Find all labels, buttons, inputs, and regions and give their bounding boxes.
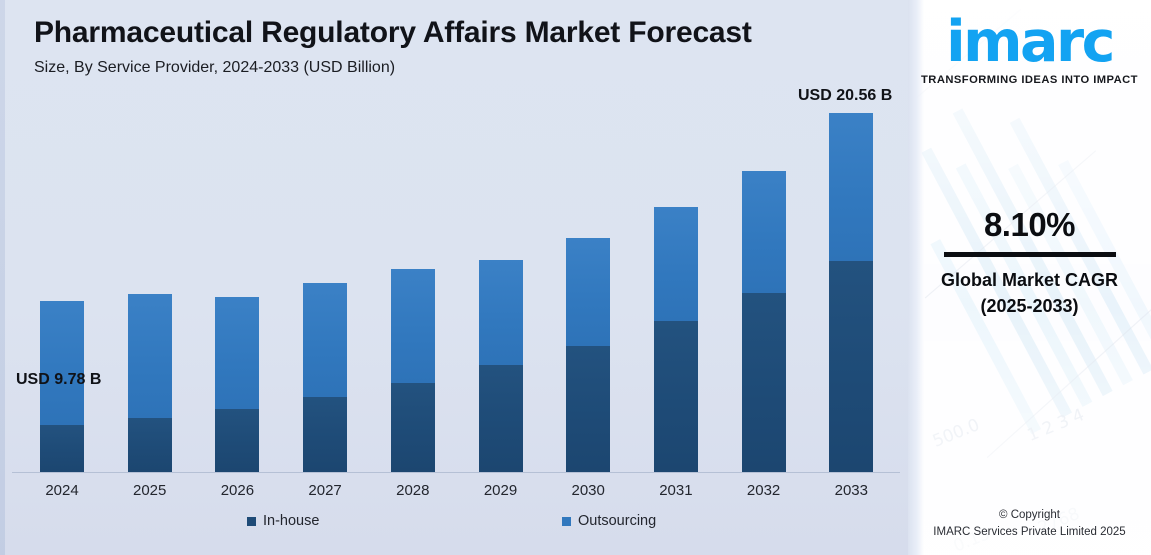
bar-segment-outsourcing-2031: [654, 207, 698, 321]
cagr-value: 8.10%: [908, 208, 1151, 243]
x-axis-label-2032: 2032: [729, 482, 799, 499]
bar-segment-outsourcing-2029: [479, 260, 523, 365]
infographic-page: Pharmaceutical Regulatory Affairs Market…: [0, 0, 1151, 555]
chart-legend: In-house Outsourcing: [0, 513, 908, 535]
bar-segment-outsourcing-2026: [215, 297, 259, 409]
bar-segment-outsourcing-2032: [742, 171, 786, 293]
bar-segment-outsourcing-2025: [128, 294, 172, 417]
bar-group-2031: [654, 207, 698, 472]
cagr-divider: [944, 252, 1116, 257]
bar-segment-outsourcing-2027: [303, 283, 347, 397]
legend-label-outsourcing: Outsourcing: [578, 513, 656, 529]
copyright-line1: © Copyright: [908, 507, 1151, 524]
value-label-last: USD 20.56 B: [798, 87, 892, 105]
legend-swatch-icon-outsourcing: [562, 517, 571, 526]
chart-panel: Pharmaceutical Regulatory Affairs Market…: [0, 0, 908, 555]
bar-group-2025: [128, 294, 172, 472]
copyright-block: © Copyright IMARC Services Private Limit…: [908, 507, 1151, 542]
value-label-first: USD 9.78 B: [16, 371, 101, 389]
legend-item-in-house: In-house: [247, 513, 319, 529]
axis-baseline: [12, 472, 900, 473]
bar-segment-in-house-2024: [40, 425, 84, 472]
x-axis-label-2024: 2024: [27, 482, 97, 499]
bar-segment-in-house-2025: [128, 418, 172, 472]
bar-segment-in-house-2026: [215, 409, 259, 472]
x-axis-label-2031: 2031: [641, 482, 711, 499]
bar-segment-outsourcing-2030: [566, 238, 610, 346]
bar-segment-outsourcing-2028: [391, 269, 435, 383]
cagr-caption-line2: (2025-2033): [908, 293, 1151, 319]
bar-segment-outsourcing-2024: [40, 301, 84, 425]
x-axis-label-2026: 2026: [202, 482, 272, 499]
bar-group-2028: [391, 269, 435, 472]
x-axis-label-2029: 2029: [466, 482, 536, 499]
legend-swatch-icon-in-house: [247, 517, 256, 526]
legend-item-outsourcing: Outsourcing: [562, 513, 656, 529]
x-axis-label-2028: 2028: [378, 482, 448, 499]
bar-segment-outsourcing-2033: [829, 113, 873, 261]
bar-segment-in-house-2031: [654, 321, 698, 472]
bar-group-2029: [479, 260, 523, 472]
bar-segment-in-house-2028: [391, 383, 435, 472]
x-axis-label-2033: 2033: [816, 482, 886, 499]
bar-group-2033: [829, 113, 873, 472]
x-axis-label-2027: 2027: [290, 482, 360, 499]
bar-group-2026: [215, 297, 259, 472]
brand-panel: 500.0 1 2 3 4 0.15 2768 imarc TRANSFORMI…: [908, 0, 1151, 555]
bar-segment-in-house-2033: [829, 261, 873, 472]
bar-group-2027: [303, 283, 347, 472]
copyright-line2: IMARC Services Private Limited 2025: [908, 524, 1151, 541]
cagr-block: 8.10% Global Market CAGR (2025-2033): [908, 208, 1151, 319]
bar-segment-in-house-2027: [303, 397, 347, 472]
bar-group-2030: [566, 238, 610, 472]
plot-area: 2024202520262027202820292030203120322033: [0, 0, 908, 555]
bar-segment-in-house-2030: [566, 346, 610, 472]
bar-segment-in-house-2029: [479, 365, 523, 472]
logo-tagline: TRANSFORMING IDEAS INTO IMPACT: [908, 74, 1151, 86]
bar-group-2032: [742, 171, 786, 472]
x-axis-label-2030: 2030: [553, 482, 623, 499]
logo-wordmark: imarc: [946, 14, 1113, 71]
bar-segment-in-house-2032: [742, 293, 786, 472]
cagr-caption-line1: Global Market CAGR: [908, 267, 1151, 293]
x-axis-label-2025: 2025: [115, 482, 185, 499]
legend-label-in-house: In-house: [263, 513, 319, 529]
imarc-logo: imarc TRANSFORMING IDEAS INTO IMPACT: [908, 14, 1151, 86]
